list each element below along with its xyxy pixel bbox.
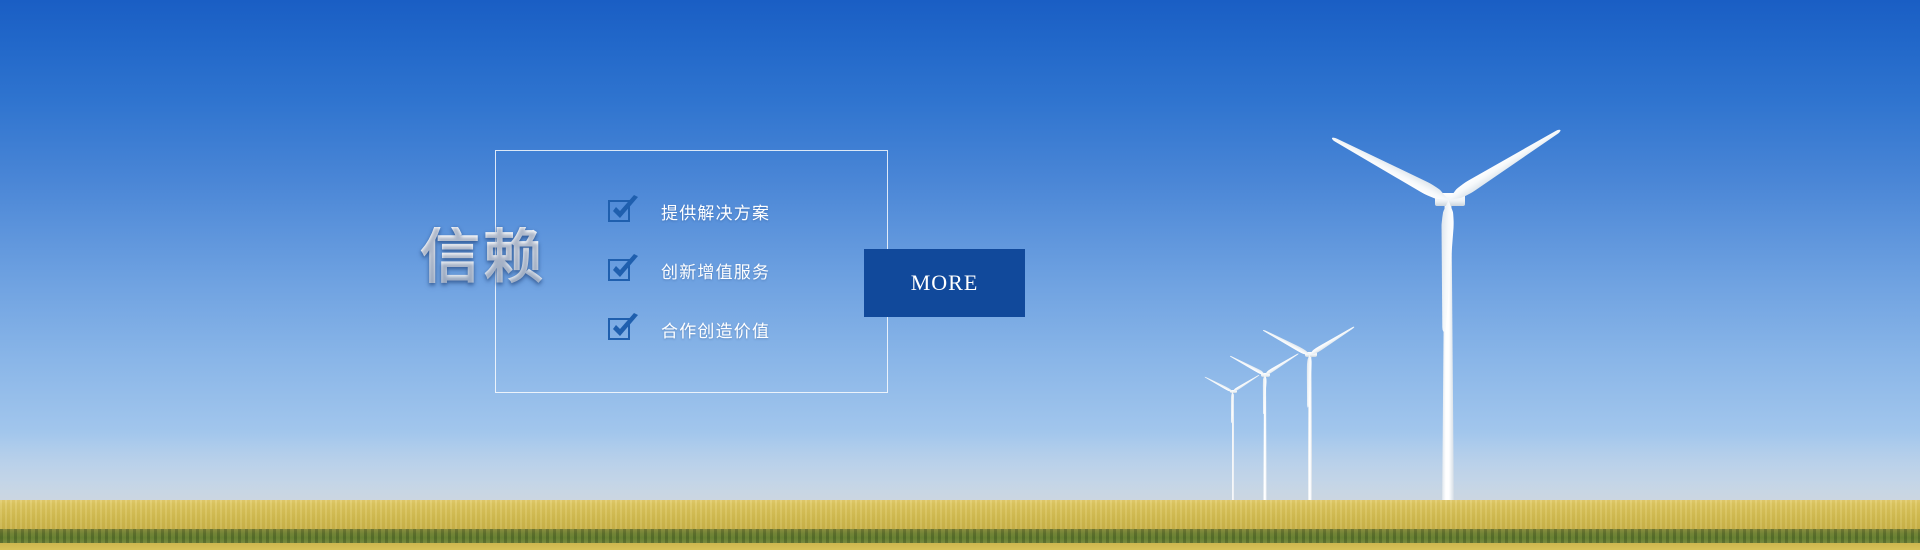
checkbox-checked-icon <box>608 257 634 283</box>
list-item-label: 提供解决方案 <box>661 199 770 224</box>
list-item: 提供解决方案 <box>608 196 838 226</box>
foreground-field <box>0 543 1920 550</box>
hero-banner: 信赖 提供解决方案 创新增值服务 <box>0 0 1920 550</box>
checkbox-checked-icon <box>608 198 634 224</box>
list-item: 合作创造价值 <box>608 314 838 344</box>
list-item: 创新增值服务 <box>608 255 838 285</box>
list-item-label: 合作创造价值 <box>661 317 770 342</box>
page-title: 信赖 <box>420 227 546 287</box>
feature-checklist: 提供解决方案 创新增值服务 合作创造价值 <box>608 196 838 344</box>
more-button[interactable]: MORE <box>864 249 1025 317</box>
list-item-label: 创新增值服务 <box>661 258 770 283</box>
checkbox-checked-icon <box>608 316 634 342</box>
horizon-haze <box>0 432 1920 502</box>
